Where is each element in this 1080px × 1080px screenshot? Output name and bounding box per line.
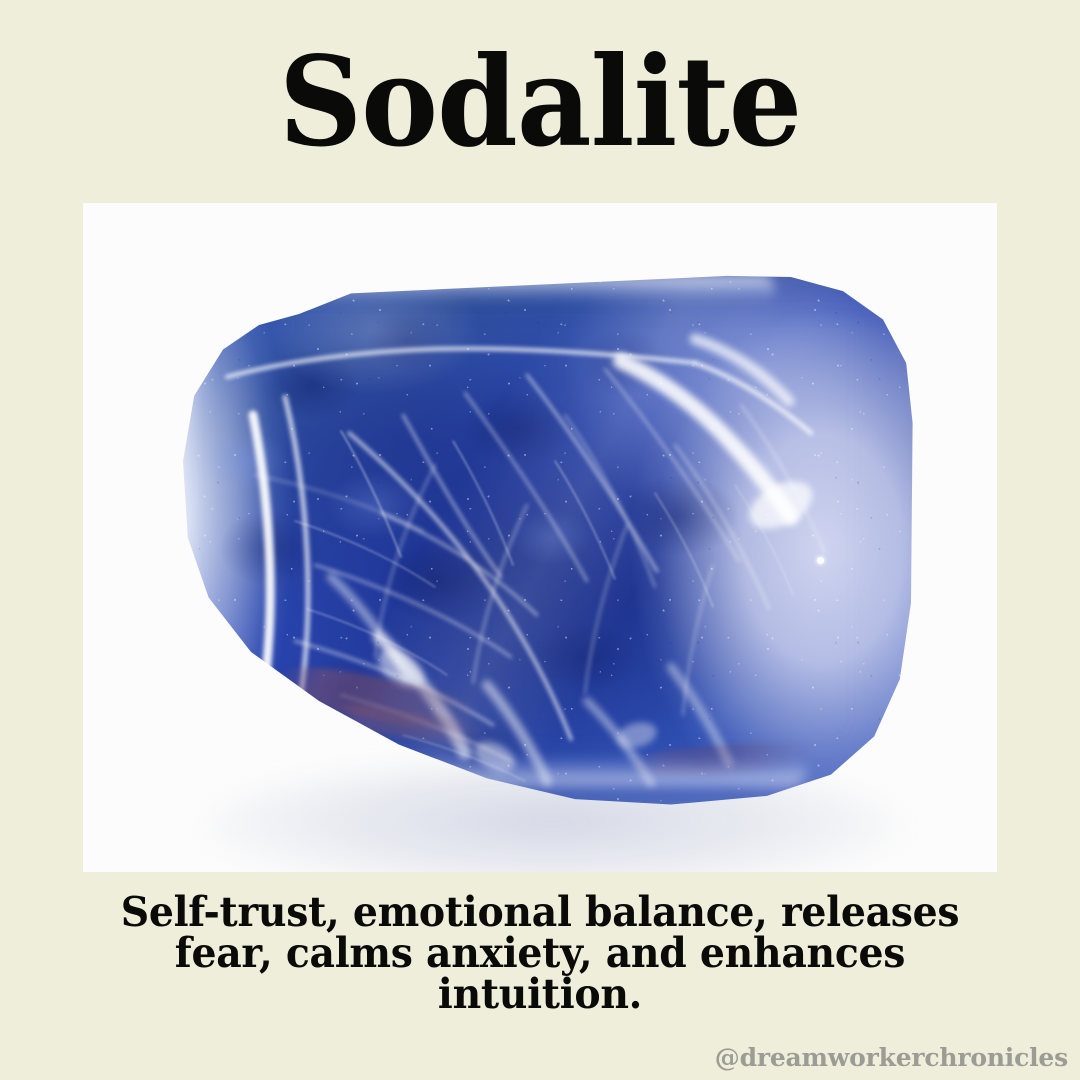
- stone-rim-highlight-top: [279, 276, 775, 302]
- caption-line-2: fear, calms anxiety, and enhances: [60, 933, 1020, 974]
- stone-bright-speck: [817, 557, 824, 564]
- stone-photo: [83, 203, 997, 872]
- caption-line-3: intuition.: [60, 974, 1020, 1015]
- stone-photo-panel: [83, 203, 997, 872]
- watermark-handle: @dreamworkerchronicles: [715, 1043, 1068, 1072]
- page-title: Sodalite: [38, 36, 1042, 170]
- caption-text: Self-trust, emotional balance, releases …: [60, 892, 1020, 1015]
- stone-rim-highlight-left: [171, 325, 217, 728]
- caption-line-1: Self-trust, emotional balance, releases: [60, 892, 1020, 933]
- social-post-card: Sodalite: [0, 0, 1080, 1080]
- sodalite-stone-image: [135, 265, 935, 810]
- stone-speckle-dark: [135, 265, 935, 810]
